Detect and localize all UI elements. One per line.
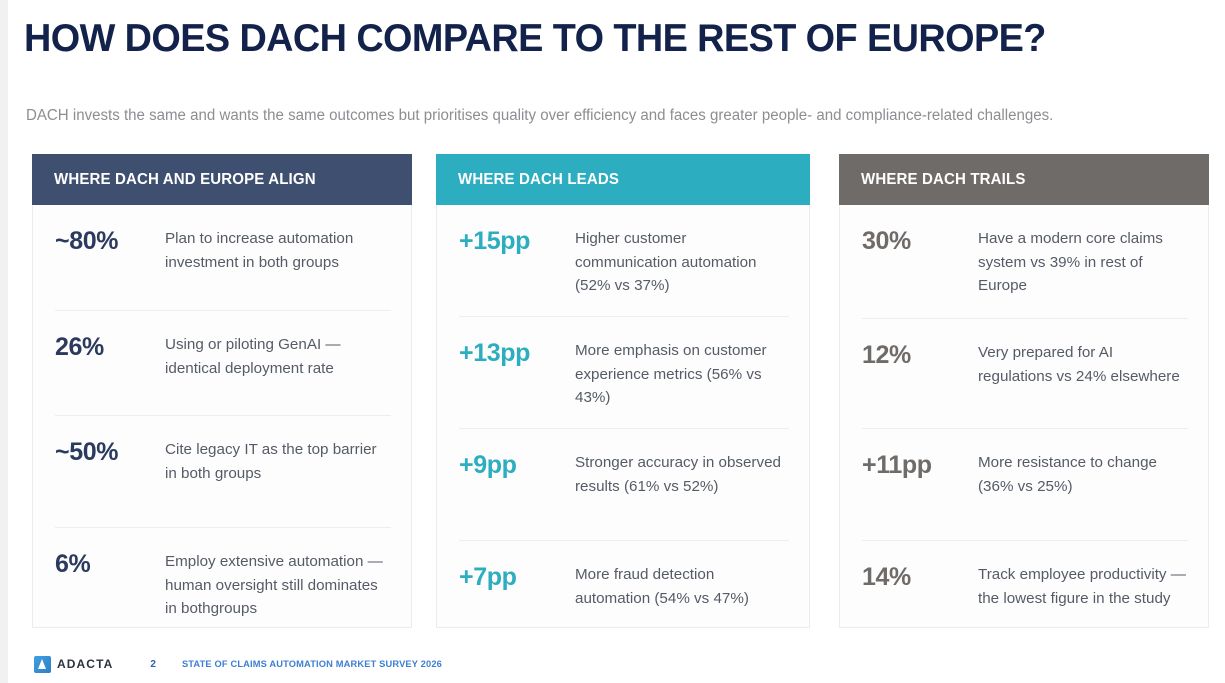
stat-value: +15pp bbox=[459, 227, 575, 255]
stat-description: Employ extensive automation — human over… bbox=[165, 550, 391, 621]
stat-row: +15pp Higher customer communication auto… bbox=[459, 205, 789, 317]
stat-value: 6% bbox=[55, 550, 165, 578]
card-header-align: WHERE DACH AND EUROPE ALIGN bbox=[32, 154, 412, 205]
page-subtitle: DACH invests the same and wants the same… bbox=[26, 105, 1198, 127]
adacta-logo-text: ADACTA bbox=[57, 657, 113, 671]
stat-value: 14% bbox=[862, 563, 978, 591]
card-body-align: ~80% Plan to increase automation investm… bbox=[33, 205, 411, 627]
stat-value: 26% bbox=[55, 333, 165, 361]
stat-description: Have a modern core claims system vs 39% … bbox=[978, 227, 1188, 298]
stat-value: +13pp bbox=[459, 339, 575, 367]
stat-row: ~80% Plan to increase automation investm… bbox=[55, 205, 391, 311]
card-body-trails: 30% Have a modern core claims system vs … bbox=[840, 205, 1208, 627]
comparison-cards: WHERE DACH AND EUROPE ALIGN ~80% Plan to… bbox=[32, 154, 1209, 628]
stat-value: +7pp bbox=[459, 563, 575, 591]
stat-value: +11pp bbox=[862, 451, 978, 479]
stat-row: 26% Using or piloting GenAI — identical … bbox=[55, 311, 391, 416]
stat-description: More resistance to change (36% vs 25%) bbox=[978, 451, 1188, 498]
stat-description: Using or piloting GenAI — identical depl… bbox=[165, 333, 391, 380]
slide-footer: ADACTA 2 STATE OF CLAIMS AUTOMATION MARK… bbox=[34, 652, 442, 676]
stat-description: Track employee productivity — the lowest… bbox=[978, 563, 1188, 610]
stat-row: ~50% Cite legacy IT as the top barrier i… bbox=[55, 416, 391, 528]
stat-row: +7pp More fraud detection automation (54… bbox=[459, 541, 789, 679]
stat-description: Very prepared for AI regulations vs 24% … bbox=[978, 341, 1188, 388]
card-header-align-label: WHERE DACH AND EUROPE ALIGN bbox=[54, 171, 316, 189]
card-header-leads: WHERE DACH LEADS bbox=[436, 154, 810, 205]
stat-description: Cite legacy IT as the top barrier in bot… bbox=[165, 438, 391, 485]
stat-value: 30% bbox=[862, 227, 978, 255]
stat-value: 12% bbox=[862, 341, 978, 369]
stat-row: 30% Have a modern core claims system vs … bbox=[862, 205, 1188, 319]
page-number: 2 bbox=[150, 659, 156, 670]
stat-row: +9pp Stronger accuracy in observed resul… bbox=[459, 429, 789, 541]
stat-value: ~50% bbox=[55, 438, 165, 466]
stat-value: +9pp bbox=[459, 451, 575, 479]
card-body-leads: +15pp Higher customer communication auto… bbox=[437, 205, 809, 627]
card-dach-trails: WHERE DACH TRAILS 30% Have a modern core… bbox=[839, 154, 1209, 628]
stat-description: Stronger accuracy in observed results (6… bbox=[575, 451, 789, 498]
card-header-trails-label: WHERE DACH TRAILS bbox=[861, 171, 1026, 189]
stat-row: +11pp More resistance to change (36% vs … bbox=[862, 429, 1188, 541]
card-dach-leads: WHERE DACH LEADS +15pp Higher customer c… bbox=[436, 154, 810, 628]
slide: HOW DOES DACH COMPARE TO THE REST OF EUR… bbox=[8, 0, 1225, 683]
page-title: HOW DOES DACH COMPARE TO THE REST OF EUR… bbox=[24, 14, 1169, 64]
stat-description: More fraud detection automation (54% vs … bbox=[575, 563, 789, 610]
stat-description: More emphasis on customer experience met… bbox=[575, 339, 789, 410]
stat-value: ~80% bbox=[55, 227, 165, 255]
stat-row: +13pp More emphasis on customer experien… bbox=[459, 317, 789, 429]
adacta-logo-icon bbox=[34, 656, 51, 673]
card-header-leads-label: WHERE DACH LEADS bbox=[458, 171, 619, 189]
card-dach-europe-align: WHERE DACH AND EUROPE ALIGN ~80% Plan to… bbox=[32, 154, 412, 628]
stat-description: Higher customer communication automation… bbox=[575, 227, 789, 298]
stat-row: 14% Track employee productivity — the lo… bbox=[862, 541, 1188, 679]
stat-description: Plan to increase automation investment i… bbox=[165, 227, 391, 274]
stat-row: 12% Very prepared for AI regulations vs … bbox=[862, 319, 1188, 429]
footer-caption: STATE OF CLAIMS AUTOMATION MARKET SURVEY… bbox=[182, 659, 442, 669]
card-header-trails: WHERE DACH TRAILS bbox=[839, 154, 1209, 205]
